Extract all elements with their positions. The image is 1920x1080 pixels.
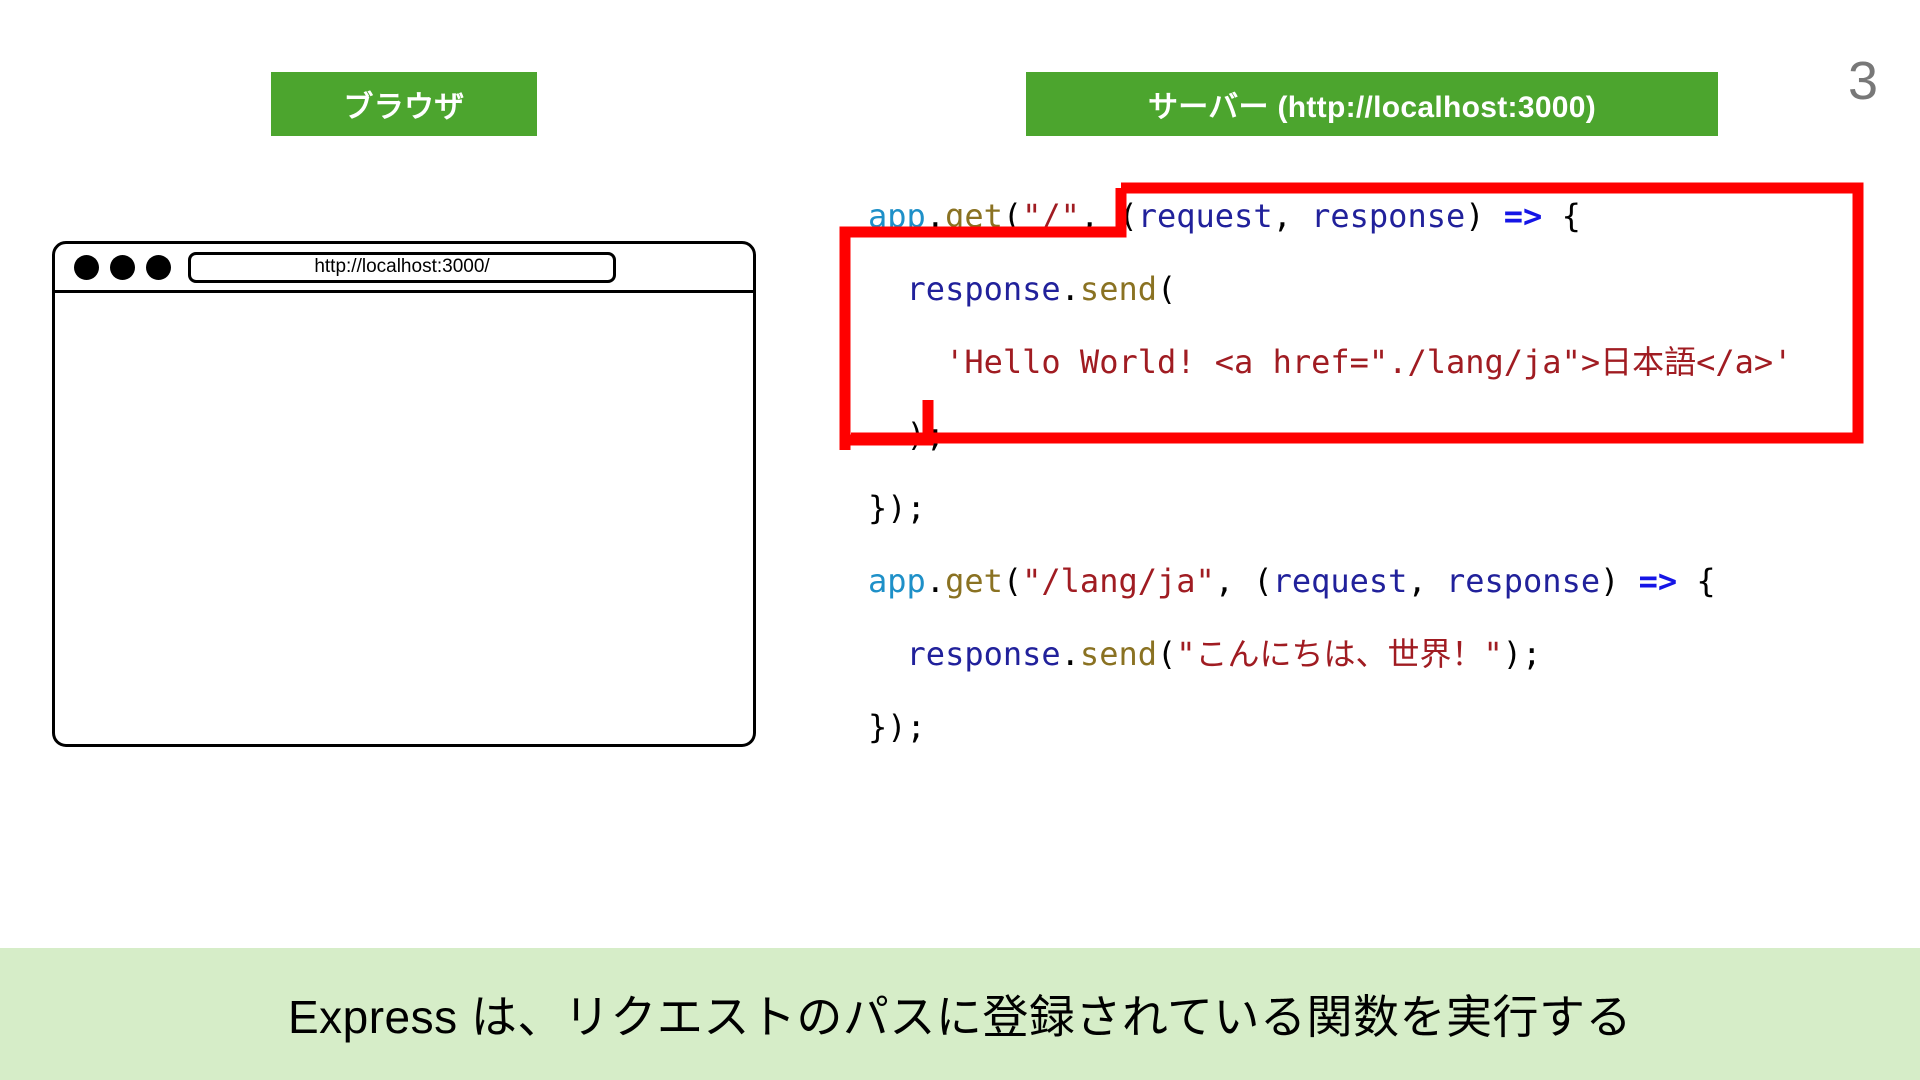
code-token: ) [1465, 197, 1504, 235]
code-token: . [1061, 635, 1080, 673]
window-dot-3-icon [146, 255, 171, 280]
browser-content-area [52, 293, 756, 747]
address-bar-url: http://localhost:3000/ [314, 256, 489, 278]
code-token: response [907, 270, 1061, 308]
window-dot-1-icon [74, 255, 99, 280]
code-token: get [945, 197, 1003, 235]
code-token: request [1273, 562, 1408, 600]
server-panel-label-text: サーバー (http://localhost:3000) [1148, 82, 1596, 126]
address-bar[interactable]: http://localhost:3000/ [188, 252, 616, 283]
code-token: send [1080, 270, 1157, 308]
window-control-dots [74, 255, 171, 280]
code-token: ( [1157, 635, 1176, 673]
code-token: ) [1600, 562, 1639, 600]
code-token: . [926, 197, 945, 235]
caption-banner: Express は、リクエストのパスに登録されている関数を実行する [0, 948, 1920, 1080]
server-panel-label: サーバー (http://localhost:3000) [1026, 72, 1718, 136]
code-token: . [1061, 270, 1080, 308]
code-token: ( [1253, 562, 1272, 600]
code-token: , [1273, 197, 1312, 235]
code-token [868, 635, 907, 673]
code-line: 'Hello World! <a href="./lang/ja">日本語</a… [868, 326, 1792, 399]
code-token: "こんにちは、世界！" [1176, 635, 1503, 673]
code-token: request [1138, 197, 1273, 235]
code-token: ( [1003, 562, 1022, 600]
code-token: ( [1118, 197, 1137, 235]
code-token: response [1311, 197, 1465, 235]
code-token: response [1446, 562, 1600, 600]
code-token: }); [868, 708, 926, 746]
code-token: { [1542, 197, 1581, 235]
browser-panel-label: ブラウザ [271, 72, 537, 136]
code-token: ( [1003, 197, 1022, 235]
code-token: , [1215, 562, 1254, 600]
code-token [868, 343, 945, 381]
code-token: get [945, 562, 1003, 600]
code-token: app [868, 197, 926, 235]
code-line: ); [868, 399, 1792, 472]
code-token: ); [1503, 635, 1542, 673]
code-token: "/" [1022, 197, 1080, 235]
code-token: }); [868, 489, 926, 527]
code-line: }); [868, 472, 1792, 545]
caption-text: Express は、リクエストのパスに登録されている関数を実行する [288, 981, 1632, 1047]
window-dot-2-icon [110, 255, 135, 280]
server-code-listing: app.get("/", (request, response) => { re… [868, 180, 1792, 764]
code-token [868, 270, 907, 308]
code-token: => [1639, 562, 1678, 600]
code-token: ); [868, 416, 945, 454]
browser-panel-label-text: ブラウザ [343, 82, 464, 126]
code-token: . [926, 562, 945, 600]
code-token: send [1080, 635, 1157, 673]
code-token: => [1504, 197, 1543, 235]
browser-window-mockup: http://localhost:3000/ [52, 241, 756, 747]
code-line: }); [868, 691, 1792, 764]
code-token: "/lang/ja" [1022, 562, 1215, 600]
code-token: , [1080, 197, 1119, 235]
code-line: response.send("こんにちは、世界！"); [868, 618, 1792, 691]
code-line: app.get("/lang/ja", (request, response) … [868, 545, 1792, 618]
code-token: response [907, 635, 1061, 673]
code-token: 'Hello World! <a href="./lang/ja">日本語</a… [945, 343, 1792, 381]
code-token: app [868, 562, 926, 600]
code-line: response.send( [868, 253, 1792, 326]
code-token: , [1407, 562, 1446, 600]
browser-toolbar: http://localhost:3000/ [52, 241, 756, 293]
page-number: 3 [1848, 54, 1878, 108]
code-token: { [1677, 562, 1716, 600]
code-token: ( [1157, 270, 1176, 308]
code-line: app.get("/", (request, response) => { [868, 180, 1792, 253]
